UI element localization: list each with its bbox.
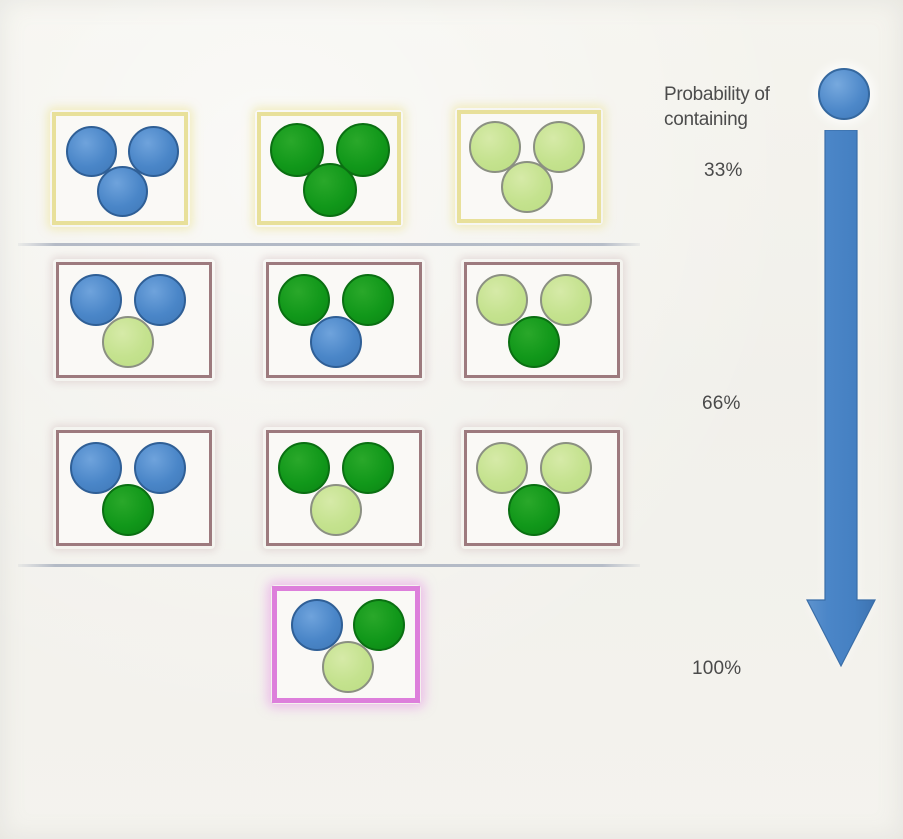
legend-caption: Probability of containing <box>664 82 814 132</box>
ball-light-green <box>501 161 553 213</box>
sample-box-1[interactable] <box>52 112 188 225</box>
ball-dark-green <box>278 274 330 326</box>
divider-66-100 <box>18 564 640 567</box>
ball-blue <box>70 442 122 494</box>
ball-dark-green <box>508 484 560 536</box>
ball-dark-green <box>102 484 154 536</box>
sample-box-9[interactable] <box>464 430 620 546</box>
sample-box-5[interactable] <box>266 262 422 378</box>
ball-light-green <box>476 274 528 326</box>
sample-box-3[interactable] <box>457 110 601 223</box>
ball-light-green <box>322 641 374 693</box>
legend-knob-circle <box>818 68 870 120</box>
ball-dark-green <box>278 442 330 494</box>
ball-dark-green <box>342 274 394 326</box>
ball-dark-green <box>353 599 405 651</box>
legend-caption-line1: Probability of <box>664 82 814 107</box>
ball-light-green <box>540 274 592 326</box>
ball-blue <box>97 166 148 217</box>
ball-blue <box>310 316 362 368</box>
ball-light-green <box>540 442 592 494</box>
scale-label-100: 100% <box>692 658 741 680</box>
ball-blue <box>134 274 186 326</box>
arrow-svg <box>795 130 891 696</box>
probability-arrow-down <box>795 130 891 696</box>
sample-box-4[interactable] <box>56 262 212 378</box>
ball-blue <box>134 442 186 494</box>
ball-dark-green <box>508 316 560 368</box>
ball-dark-green <box>303 163 357 217</box>
scale-label-33: 33% <box>704 160 743 182</box>
ball-light-green <box>476 442 528 494</box>
sample-box-7[interactable] <box>56 430 212 546</box>
sample-box-8[interactable] <box>266 430 422 546</box>
legend-caption-line2: containing <box>664 107 814 132</box>
sample-box-6[interactable] <box>464 262 620 378</box>
divider-33-66 <box>18 243 640 246</box>
sample-box-2[interactable] <box>257 112 401 225</box>
ball-blue <box>70 274 122 326</box>
ball-dark-green <box>342 442 394 494</box>
ball-light-green <box>102 316 154 368</box>
scale-label-66: 66% <box>702 393 741 415</box>
diagram-canvas: Probability of containing 33% 66% 100% <box>0 0 903 839</box>
arrow-shape <box>807 130 875 666</box>
ball-light-green <box>310 484 362 536</box>
sample-box-10[interactable] <box>272 586 420 703</box>
